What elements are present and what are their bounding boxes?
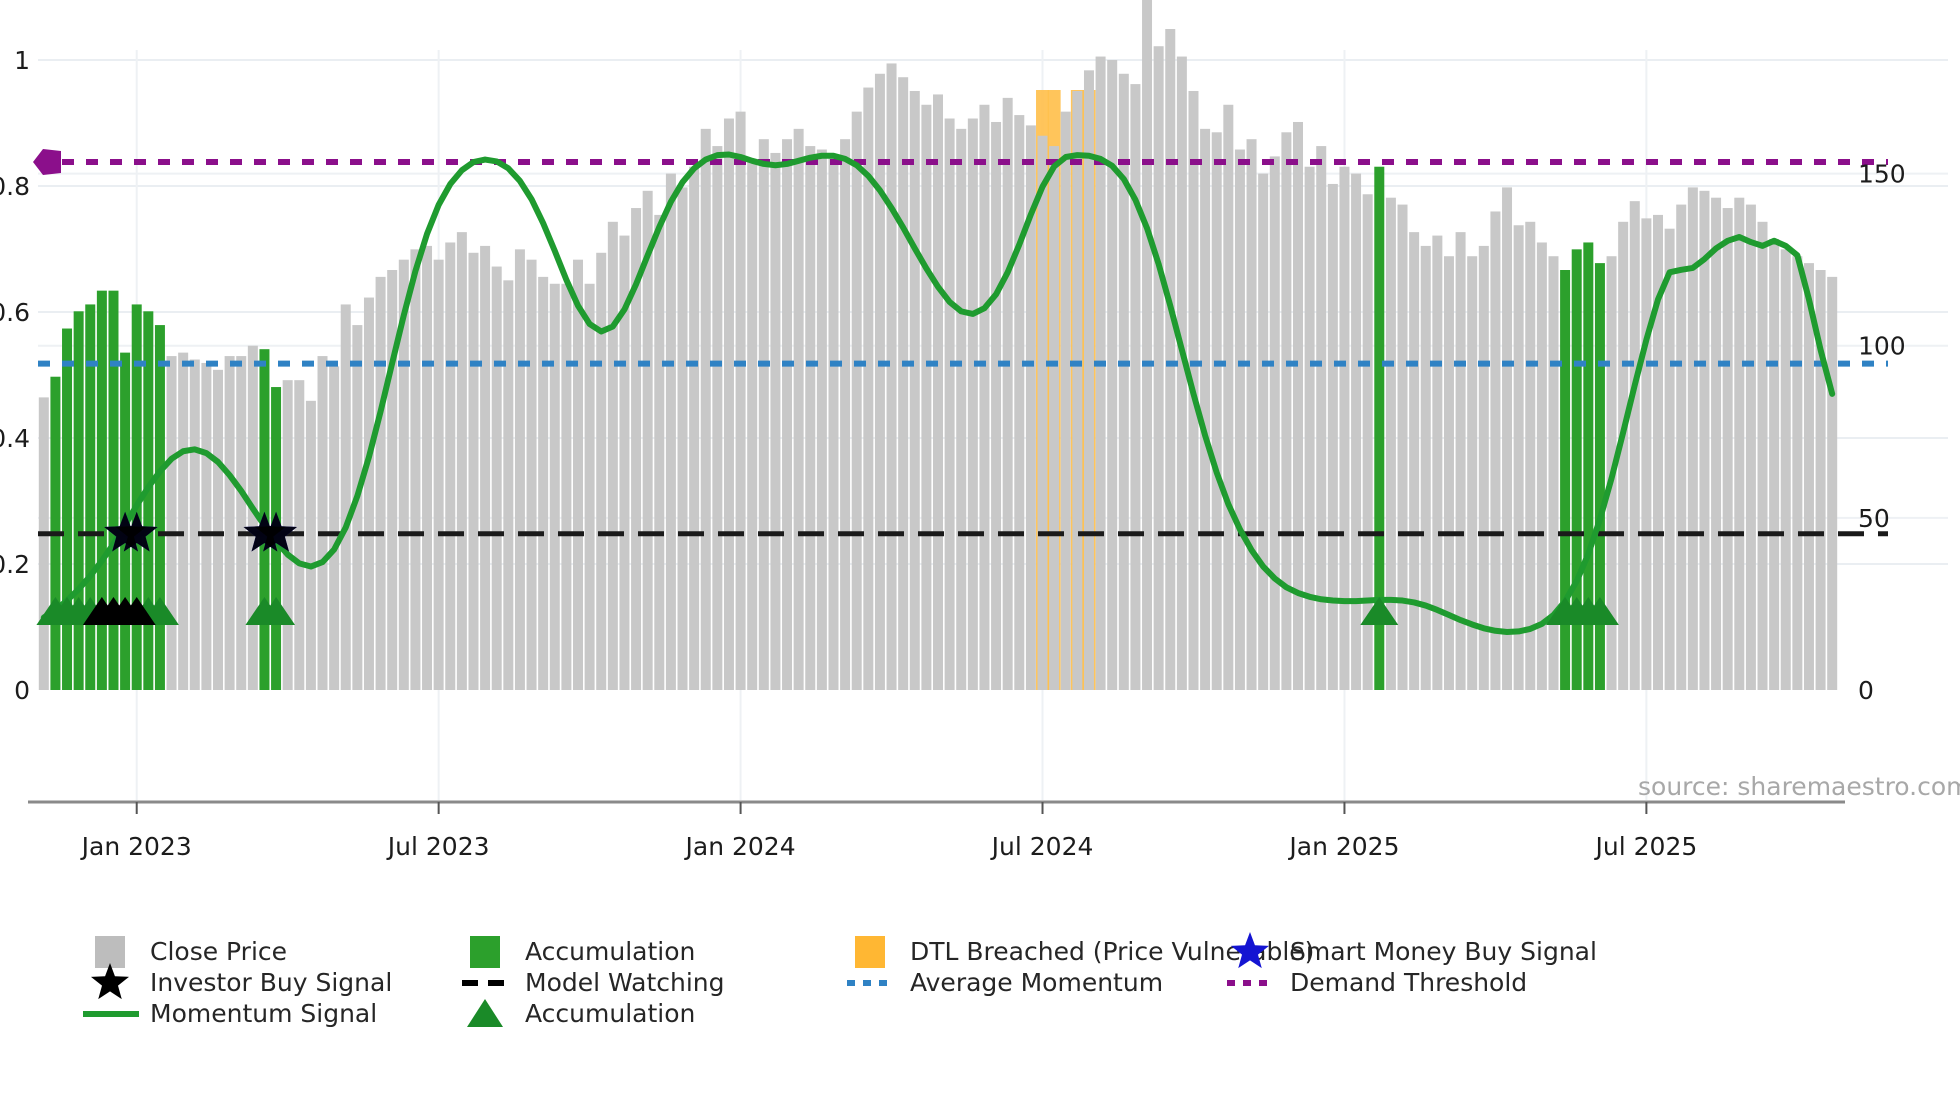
price-bar bbox=[1119, 74, 1129, 690]
price-bar bbox=[898, 77, 908, 690]
price-bar bbox=[155, 325, 165, 690]
price-bar bbox=[97, 291, 107, 690]
accumulation-marker-row bbox=[36, 597, 1619, 625]
price-bar bbox=[1781, 249, 1791, 690]
price-bar bbox=[1014, 115, 1024, 690]
price-bar bbox=[1734, 198, 1744, 690]
price-bar bbox=[550, 284, 560, 690]
price-bar bbox=[759, 139, 769, 690]
price-bar bbox=[724, 119, 734, 690]
price-bar bbox=[225, 356, 235, 690]
legend-demand-threshold[interactable]: Demand Threshold bbox=[1227, 968, 1527, 997]
price-bar bbox=[1560, 270, 1570, 690]
legend-label: Demand Threshold bbox=[1290, 968, 1527, 997]
price-bar bbox=[1432, 236, 1442, 690]
price-bar bbox=[596, 253, 606, 690]
legend-average-momentum[interactable]: Average Momentum bbox=[847, 968, 1163, 997]
price-bar bbox=[736, 112, 746, 690]
price-bar bbox=[1665, 229, 1675, 690]
price-bar bbox=[828, 156, 838, 690]
y-axis-tick-left: 1 bbox=[14, 46, 30, 75]
price-bar bbox=[329, 366, 339, 690]
price-bar bbox=[701, 129, 711, 690]
legend-swatch-triangle bbox=[467, 999, 503, 1027]
price-bar bbox=[1421, 246, 1431, 690]
price-bar bbox=[1200, 129, 1210, 690]
price-bar bbox=[1723, 208, 1733, 690]
price-bar bbox=[445, 242, 455, 690]
price-bar bbox=[422, 246, 432, 690]
legend-label: Momentum Signal bbox=[150, 999, 377, 1028]
price-bar bbox=[991, 122, 1001, 690]
price-bar bbox=[1247, 139, 1257, 690]
price-bar bbox=[817, 150, 827, 690]
price-bar bbox=[1212, 132, 1222, 690]
price-bar bbox=[805, 146, 815, 690]
legend-label: Smart Money Buy Signal bbox=[1290, 937, 1597, 966]
price-bar bbox=[74, 311, 84, 690]
price-bar bbox=[108, 291, 118, 690]
legend-label: Model Watching bbox=[525, 968, 725, 997]
price-bar bbox=[1490, 211, 1500, 690]
legend-swatch-square bbox=[855, 936, 885, 968]
price-bar bbox=[1223, 105, 1233, 690]
price-bar bbox=[167, 356, 177, 690]
legend-investor-buy[interactable]: Investor Buy Signal bbox=[91, 963, 392, 999]
price-bar bbox=[190, 360, 200, 690]
price-bar bbox=[457, 232, 467, 690]
legend-label: Average Momentum bbox=[910, 968, 1163, 997]
price-bar bbox=[887, 63, 897, 690]
price-bar bbox=[503, 280, 513, 690]
price-bar bbox=[387, 270, 397, 690]
price-bar bbox=[492, 267, 502, 690]
price-bar bbox=[143, 311, 153, 690]
legend-close-price[interactable]: Close Price bbox=[95, 936, 287, 968]
price-bar bbox=[1769, 239, 1779, 690]
price-bar bbox=[1130, 84, 1140, 690]
price-bar bbox=[434, 260, 444, 690]
price-bar bbox=[968, 119, 978, 690]
legend-swatch-star bbox=[91, 963, 129, 999]
price-bar bbox=[979, 105, 989, 690]
price-bar bbox=[933, 94, 943, 690]
price-bar bbox=[1061, 112, 1071, 690]
price-bar bbox=[213, 370, 223, 690]
price-bar bbox=[1281, 132, 1291, 690]
y-axis-tick-left: 0 bbox=[14, 676, 30, 705]
price-bar bbox=[910, 91, 920, 690]
price-bar bbox=[1339, 167, 1349, 690]
price-bar bbox=[1409, 232, 1419, 690]
price-bar bbox=[1107, 60, 1117, 690]
price-bar bbox=[1479, 246, 1489, 690]
price-bar bbox=[608, 222, 618, 690]
price-bar bbox=[875, 74, 885, 690]
price-bar bbox=[1792, 256, 1802, 690]
legend-model-watching[interactable]: Model Watching bbox=[462, 968, 725, 997]
price-bar bbox=[1641, 218, 1651, 690]
price-bar bbox=[770, 153, 780, 690]
legend-swatch-square bbox=[470, 936, 500, 968]
x-axis-tick-label: Jan 2023 bbox=[80, 832, 192, 861]
price-bar bbox=[39, 397, 49, 690]
price-bar bbox=[1711, 198, 1721, 690]
price-bar bbox=[480, 246, 490, 690]
price-bar bbox=[585, 284, 595, 690]
price-bar bbox=[468, 253, 478, 690]
price-bar bbox=[1699, 191, 1709, 690]
price-bar bbox=[1305, 167, 1315, 690]
price-bar bbox=[1630, 201, 1640, 690]
y-axis-tick-left: 0.4 bbox=[0, 424, 30, 453]
price-bar bbox=[654, 215, 664, 690]
x-axis-tick-label: Jul 2025 bbox=[1594, 832, 1698, 861]
price-bar bbox=[1676, 205, 1686, 690]
price-bar bbox=[794, 129, 804, 690]
price-bar bbox=[62, 329, 72, 690]
price-bar bbox=[538, 277, 548, 690]
momentum-chart: 00.20.40.60.81050100150Jan 2023Jul 2023J… bbox=[0, 0, 1960, 1102]
x-axis-tick-label: Jul 2023 bbox=[386, 832, 490, 861]
price-bar bbox=[840, 139, 850, 690]
price-bar bbox=[573, 260, 583, 690]
legend-accumulation-triangle[interactable]: Accumulation bbox=[467, 999, 695, 1028]
legend: Close PriceAccumulationDTL Breached (Pri… bbox=[83, 932, 1597, 1028]
price-bar bbox=[1084, 70, 1094, 690]
price-bar bbox=[306, 401, 316, 690]
price-bar bbox=[1316, 146, 1326, 690]
price-bar bbox=[410, 249, 420, 690]
x-axis-tick-label: Jul 2024 bbox=[990, 832, 1094, 861]
price-bar bbox=[747, 160, 757, 690]
price-bar bbox=[1003, 98, 1013, 690]
price-bar bbox=[1827, 277, 1837, 690]
price-bar bbox=[1038, 136, 1048, 690]
price-bar bbox=[666, 174, 676, 690]
price-bar bbox=[1142, 0, 1152, 690]
price-bar bbox=[201, 363, 211, 690]
price-bar bbox=[1595, 263, 1605, 690]
y-axis-tick-right: 50 bbox=[1858, 504, 1890, 533]
y-axis-tick-left: 0.8 bbox=[0, 172, 30, 201]
y-axis-tick-left: 0.6 bbox=[0, 298, 30, 327]
price-bar bbox=[1758, 222, 1768, 690]
legend-momentum-signal[interactable]: Momentum Signal bbox=[83, 999, 377, 1028]
demand-threshold-marker bbox=[33, 149, 61, 175]
price-bar bbox=[1049, 146, 1059, 690]
price-bar bbox=[1096, 57, 1106, 690]
price-bar bbox=[1351, 174, 1361, 690]
price-bar bbox=[945, 119, 955, 690]
price-bar bbox=[921, 105, 931, 690]
price-bar bbox=[1525, 222, 1535, 690]
source-note: source: sharemaestro.com bbox=[1638, 772, 1960, 801]
price-bar bbox=[1270, 156, 1280, 690]
legend-accumulation-bar[interactable]: Accumulation bbox=[470, 936, 695, 968]
price-bar bbox=[1293, 122, 1303, 690]
price-bar bbox=[527, 260, 537, 690]
price-bar bbox=[1328, 184, 1338, 690]
price-bar bbox=[1398, 205, 1408, 690]
y-axis-tick-left: 0.2 bbox=[0, 550, 30, 579]
price-bar bbox=[712, 146, 722, 690]
price-bar bbox=[376, 277, 386, 690]
legend-label: Accumulation bbox=[525, 999, 695, 1028]
price-bar bbox=[341, 304, 351, 690]
price-bar bbox=[1154, 46, 1164, 690]
price-bar bbox=[1502, 187, 1512, 690]
price-bar bbox=[782, 139, 792, 690]
price-bar bbox=[561, 284, 571, 690]
legend-label: Investor Buy Signal bbox=[150, 968, 392, 997]
price-bar bbox=[178, 353, 188, 690]
price-bar bbox=[678, 187, 688, 690]
x-axis-tick-label: Jan 2024 bbox=[684, 832, 796, 861]
legend-label: Accumulation bbox=[525, 937, 695, 966]
price-bar bbox=[1072, 91, 1082, 690]
price-bar bbox=[1514, 225, 1524, 690]
price-bar bbox=[1746, 205, 1756, 690]
price-bar bbox=[689, 167, 699, 690]
price-bar bbox=[852, 112, 862, 690]
chart-page: 00.20.40.60.81050100150Jan 2023Jul 2023J… bbox=[0, 0, 1960, 1102]
price-bar bbox=[236, 356, 246, 690]
price-bar bbox=[1258, 174, 1268, 690]
price-bar bbox=[318, 356, 328, 690]
price-bar bbox=[515, 249, 525, 690]
price-bar bbox=[1235, 150, 1245, 690]
legend-label: Close Price bbox=[150, 937, 287, 966]
x-axis-tick-label: Jan 2025 bbox=[1287, 832, 1399, 861]
y-axis-tick-right: 150 bbox=[1858, 160, 1906, 189]
price-bar bbox=[1444, 256, 1454, 690]
y-axis-tick-right: 0 bbox=[1858, 676, 1874, 705]
price-bar bbox=[364, 298, 374, 690]
y-axis-tick-right: 100 bbox=[1858, 332, 1906, 361]
price-bar bbox=[956, 129, 966, 690]
price-bar bbox=[1165, 29, 1175, 690]
